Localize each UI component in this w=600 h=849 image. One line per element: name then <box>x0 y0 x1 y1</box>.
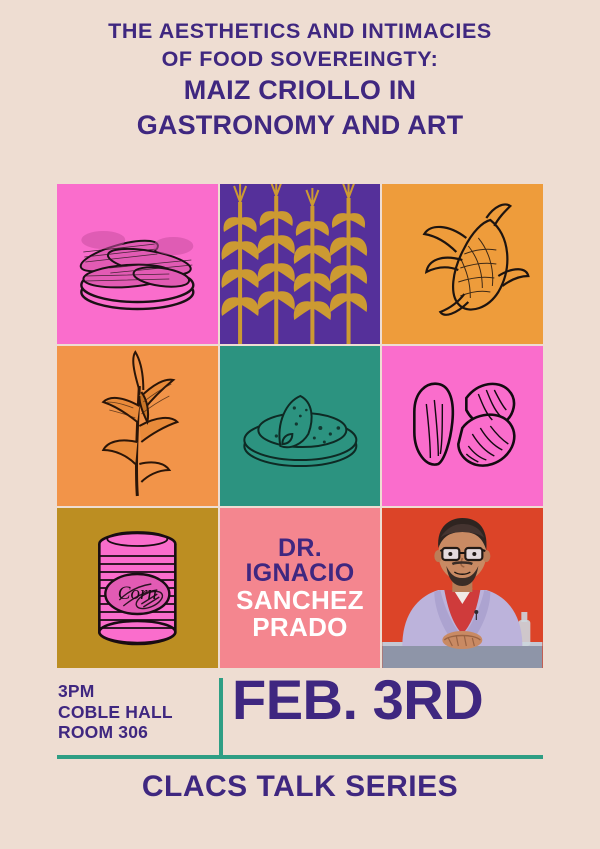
grid-cell-tamales <box>382 346 543 506</box>
grid-cell-tortillas <box>220 346 381 506</box>
title-line-1: THE AESTHETICS AND INTIMACIES <box>0 18 600 46</box>
event-date: FEB. 3RD <box>232 672 552 728</box>
speaker-photo <box>382 508 543 668</box>
grid-cell-corn-plant <box>57 346 218 506</box>
corn-cobs-plate-icon <box>57 184 218 344</box>
grid-cell-speaker-name: DR. IGNACIO SANCHEZ PRADO <box>220 508 381 668</box>
vertical-divider <box>219 678 223 756</box>
tortillas-icon <box>220 346 381 506</box>
speaker-first-name: IGNACIO <box>236 561 364 587</box>
event-time: 3PM <box>58 681 216 702</box>
grid-cell-canned-corn: Corn <box>57 508 218 668</box>
title-line-2: OF FOOD SOVEREINGTY: <box>0 46 600 74</box>
image-grid: Corn DR. IGNACIO SANCHEZ PRADO <box>57 184 543 668</box>
corn-ear-icon <box>382 184 543 344</box>
grid-cell-corn-cobs <box>57 184 218 344</box>
grid-cell-speaker-portrait <box>382 508 543 668</box>
horizontal-divider <box>57 755 543 759</box>
event-details: 3PM COBLE HALL ROOM 306 <box>58 681 216 743</box>
event-venue: COBLE HALL <box>58 702 216 723</box>
title-line-4: GASTRONOMY AND ART <box>0 108 600 143</box>
speaker-honorific: DR. <box>236 536 364 562</box>
corn-plant-icon <box>57 346 218 506</box>
poster-root: THE AESTHETICS AND INTIMACIES OF FOOD SO… <box>0 0 600 849</box>
grid-cell-corn-ear <box>382 184 543 344</box>
tamales-icon <box>382 346 543 506</box>
corn-stalks-icon <box>220 184 381 344</box>
speaker-last-name-1: SANCHEZ <box>236 587 364 614</box>
page-title: THE AESTHETICS AND INTIMACIES OF FOOD SO… <box>0 18 600 142</box>
speaker-name-block: DR. IGNACIO SANCHEZ PRADO <box>232 536 368 640</box>
grid-cell-corn-field <box>220 184 381 344</box>
event-room: ROOM 306 <box>58 722 216 743</box>
speaker-last-name-2: PRADO <box>236 614 364 641</box>
corn-can-icon: Corn <box>57 508 218 668</box>
title-line-3: MAIZ CRIOLLO IN <box>0 73 600 108</box>
series-name: CLACS TALK SERIES <box>0 770 600 804</box>
can-label-text: Corn <box>118 583 157 604</box>
